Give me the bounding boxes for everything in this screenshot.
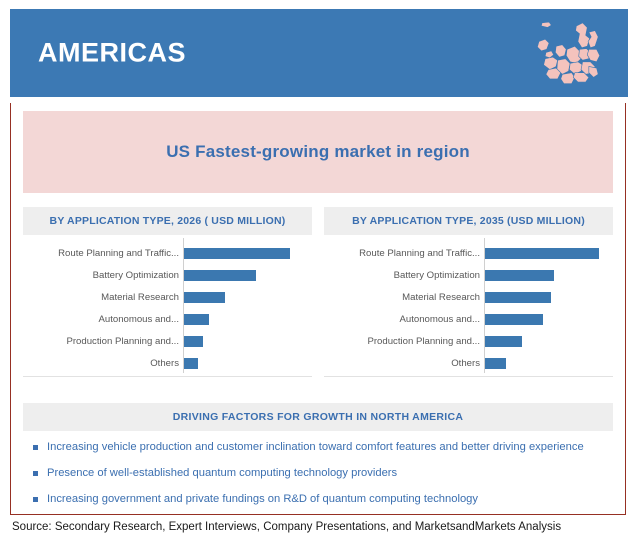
bar-row: Battery Optimization [23,264,312,286]
header-banner: AMERICAS [10,9,628,97]
charts-region: BY APPLICATION TYPE, 2026 ( USD MILLION)… [23,207,613,389]
bar-category-label: Production Planning and... [23,336,183,347]
driving-factors-list: Increasing vehicle production and custom… [33,441,613,519]
bar-track [183,330,312,352]
subtitle-text: US Fastest-growing market in region [166,142,470,162]
subtitle-banner: US Fastest-growing market in region [23,111,613,193]
bar-row: Autonomous and... [23,308,312,330]
driving-factor-text: Increasing government and private fundin… [47,493,478,506]
bar [484,314,543,325]
bar-row: Route Planning and Traffic... [23,242,312,264]
bullet-square-icon [33,445,38,450]
chart-baseline-2035 [324,376,613,377]
bar-row: Material Research [324,286,613,308]
bar-track [484,308,613,330]
bar-track [183,264,312,286]
driving-factors-title: DRIVING FACTORS FOR GROWTH IN NORTH AMER… [173,411,464,423]
bullet-square-icon [33,497,38,502]
driving-factor-text: Increasing vehicle production and custom… [47,441,584,454]
bullet-square-icon [33,471,38,476]
bar-track [183,286,312,308]
bar-row: Others [324,352,613,374]
bar-category-label: Battery Optimization [23,270,183,281]
bar-row: Production Planning and... [23,330,312,352]
bar-track [183,242,312,264]
chart-plot-2035: Route Planning and Traffic...Battery Opt… [324,235,613,375]
chart-title-2026: BY APPLICATION TYPE, 2026 ( USD MILLION) [50,215,286,227]
chart-panel-2026: BY APPLICATION TYPE, 2026 ( USD MILLION)… [23,207,312,389]
bar-track [484,264,613,286]
chart-axis-2035 [484,238,485,373]
bar-track [183,352,312,374]
bar-track [484,242,613,264]
chart-baseline-2026 [23,376,312,377]
bar [484,248,599,259]
europe-map-icon [528,15,606,93]
bar-group-2035: Route Planning and Traffic...Battery Opt… [324,242,613,374]
bar [183,292,225,303]
bar-category-label: Others [23,358,183,369]
driving-factor-item: Increasing vehicle production and custom… [33,441,613,454]
bar-category-label: Autonomous and... [23,314,183,325]
bar [183,336,203,347]
bar-track [484,286,613,308]
bar [183,270,256,281]
bar-group-2026: Route Planning and Traffic...Battery Opt… [23,242,312,374]
bar-category-label: Route Planning and Traffic... [324,248,484,259]
bar [484,270,554,281]
bar-row: Production Planning and... [324,330,613,352]
bar [183,248,290,259]
bar [484,336,522,347]
chart-header-2026: BY APPLICATION TYPE, 2026 ( USD MILLION) [23,207,312,235]
driving-factor-item: Increasing government and private fundin… [33,493,613,506]
bar-category-label: Route Planning and Traffic... [23,248,183,259]
chart-axis-2026 [183,238,184,373]
chart-header-2035: BY APPLICATION TYPE, 2035 (USD MILLION) [324,207,613,235]
driving-factor-text: Presence of well-established quantum com… [47,467,397,480]
bar-track [484,352,613,374]
bar [484,292,551,303]
bar-category-label: Material Research [324,292,484,303]
bar-category-label: Production Planning and... [324,336,484,347]
bar-row: Route Planning and Traffic... [324,242,613,264]
content-card: US Fastest-growing market in region BY A… [10,103,626,515]
page-title: AMERICAS [38,38,186,69]
bar [183,314,209,325]
bar-category-label: Autonomous and... [324,314,484,325]
chart-panel-2035: BY APPLICATION TYPE, 2035 (USD MILLION) … [324,207,613,389]
driving-factor-item: Presence of well-established quantum com… [33,467,613,480]
bar [183,358,198,369]
chart-plot-2026: Route Planning and Traffic...Battery Opt… [23,235,312,375]
bar-row: Material Research [23,286,312,308]
driving-factors-header: DRIVING FACTORS FOR GROWTH IN NORTH AMER… [23,403,613,431]
bar-row: Others [23,352,312,374]
source-note: Source: Secondary Research, Expert Inter… [12,521,561,533]
bar [484,358,506,369]
chart-title-2035: BY APPLICATION TYPE, 2035 (USD MILLION) [352,215,585,227]
bar-category-label: Battery Optimization [324,270,484,281]
bar-track [484,330,613,352]
bar-category-label: Others [324,358,484,369]
bar-row: Battery Optimization [324,264,613,286]
bar-track [183,308,312,330]
bar-row: Autonomous and... [324,308,613,330]
bar-category-label: Material Research [23,292,183,303]
